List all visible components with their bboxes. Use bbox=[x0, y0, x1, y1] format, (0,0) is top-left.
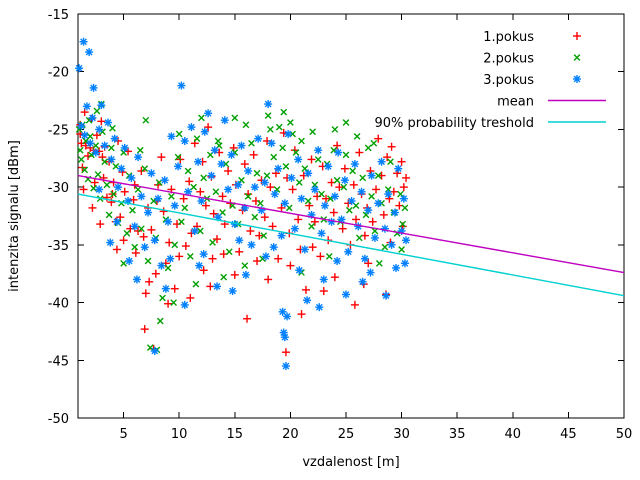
data-point-star bbox=[164, 218, 172, 226]
data-point-star bbox=[125, 257, 133, 265]
data-point-star bbox=[131, 222, 139, 230]
data-point-star bbox=[81, 131, 89, 139]
data-point-star bbox=[227, 151, 235, 159]
legend-label-3.pokus[interactable]: 3.pokus bbox=[483, 73, 534, 88]
data-point-star bbox=[242, 271, 250, 279]
data-point-star bbox=[333, 257, 341, 265]
data-point-star bbox=[384, 190, 392, 198]
y-tick-label: -45 bbox=[48, 354, 69, 369]
data-point-star bbox=[271, 190, 279, 198]
data-point-star bbox=[200, 250, 208, 258]
data-point-star bbox=[324, 162, 332, 170]
data-point-star bbox=[114, 183, 122, 191]
data-point-star bbox=[281, 333, 289, 341]
data-point-star bbox=[573, 75, 581, 83]
data-point-star bbox=[83, 102, 91, 110]
x-tick-label: 35 bbox=[449, 427, 466, 442]
data-point-star bbox=[400, 195, 408, 203]
x-axis-title: vzdalenost [m] bbox=[302, 455, 399, 470]
data-point-star bbox=[144, 209, 152, 217]
data-point-star bbox=[224, 185, 232, 193]
y-tick-label: -15 bbox=[48, 8, 69, 23]
data-point-star bbox=[391, 209, 399, 217]
legend-label-1.pokus[interactable]: 1.pokus bbox=[483, 30, 534, 45]
plot-background bbox=[0, 0, 640, 480]
data-point-star bbox=[348, 197, 356, 205]
data-point-star bbox=[167, 132, 175, 140]
data-point-star bbox=[194, 158, 202, 166]
data-point-star bbox=[267, 139, 275, 147]
data-point-star bbox=[86, 139, 94, 147]
data-point-star bbox=[104, 119, 112, 127]
data-point-star bbox=[75, 64, 83, 72]
data-point-star bbox=[315, 303, 323, 311]
data-point-star bbox=[344, 248, 352, 256]
data-point-star bbox=[137, 192, 145, 200]
y-tick-label: -25 bbox=[48, 123, 69, 138]
data-point-star bbox=[177, 82, 185, 90]
data-point-star bbox=[251, 183, 259, 191]
data-point-star bbox=[107, 155, 115, 163]
data-point-star bbox=[364, 206, 372, 214]
data-point-star bbox=[282, 362, 290, 370]
data-point-star bbox=[95, 185, 103, 193]
data-point-star bbox=[181, 301, 189, 309]
data-point-star bbox=[301, 245, 309, 253]
data-point-star bbox=[97, 101, 105, 109]
data-point-star bbox=[284, 130, 292, 138]
data-point-star bbox=[274, 165, 282, 173]
y-tick-label: -30 bbox=[48, 181, 69, 196]
data-point-star bbox=[162, 285, 170, 293]
data-point-star bbox=[111, 135, 119, 143]
data-point-star bbox=[127, 174, 135, 182]
data-point-star bbox=[321, 202, 329, 210]
data-point-star bbox=[166, 255, 174, 263]
data-point-star bbox=[247, 241, 255, 249]
data-point-star bbox=[331, 192, 339, 200]
data-point-star bbox=[106, 239, 114, 247]
data-point-star bbox=[147, 169, 155, 177]
data-point-star bbox=[113, 218, 121, 226]
data-point-star bbox=[378, 158, 386, 166]
legend-label-90% probability treshold[interactable]: 90% probability treshold bbox=[374, 116, 534, 131]
x-tick-label: 50 bbox=[616, 427, 633, 442]
data-point-star bbox=[235, 236, 243, 244]
data-point-star bbox=[294, 155, 302, 163]
x-tick-label: 45 bbox=[560, 427, 577, 442]
data-point-star bbox=[314, 146, 322, 154]
data-point-star bbox=[270, 243, 278, 251]
y-axis-title: intenzita signalu [dBm] bbox=[7, 140, 22, 292]
x-tick-label: 15 bbox=[227, 427, 244, 442]
data-point-star bbox=[311, 185, 319, 193]
data-point-star bbox=[358, 188, 366, 196]
chart-canvas: 5101520253035404550 -15-20-25-30-35-40-4… bbox=[0, 0, 640, 480]
data-point-star bbox=[382, 292, 390, 300]
data-point-star bbox=[121, 144, 129, 152]
data-point-star bbox=[374, 199, 382, 207]
data-point-star bbox=[80, 38, 88, 46]
y-tick-label: -35 bbox=[48, 239, 69, 254]
data-point-star bbox=[174, 162, 182, 170]
x-tick-label: 20 bbox=[282, 427, 299, 442]
data-point-star bbox=[298, 195, 306, 203]
data-point-star bbox=[291, 225, 299, 233]
data-point-star bbox=[134, 153, 142, 161]
data-point-star bbox=[318, 229, 326, 237]
data-point-star bbox=[207, 172, 215, 180]
data-point-star bbox=[181, 137, 189, 145]
data-point-star bbox=[217, 160, 225, 168]
data-point-star bbox=[366, 269, 374, 277]
data-point-star bbox=[157, 262, 165, 270]
data-point-star bbox=[381, 225, 389, 233]
data-point-star bbox=[191, 227, 199, 235]
x-tick-label: 5 bbox=[119, 427, 127, 442]
data-point-star bbox=[359, 278, 367, 286]
data-point-star bbox=[281, 199, 289, 207]
data-point-star bbox=[201, 128, 209, 136]
data-point-star bbox=[221, 116, 229, 124]
scatter-plot-figure: 5101520253035404550 -15-20-25-30-35-40-4… bbox=[0, 0, 640, 480]
data-point-star bbox=[261, 179, 269, 187]
data-point-star bbox=[117, 165, 125, 173]
data-point-star bbox=[229, 287, 237, 295]
data-point-star bbox=[211, 146, 219, 154]
y-tick-label: -20 bbox=[48, 66, 69, 81]
data-point-star bbox=[85, 48, 93, 56]
data-point-star bbox=[295, 266, 303, 274]
data-point-star bbox=[90, 84, 98, 92]
data-point-star bbox=[154, 195, 162, 203]
legend-label-2.pokus[interactable]: 2.pokus bbox=[483, 52, 534, 67]
data-point-star bbox=[101, 142, 109, 150]
data-point-star bbox=[234, 181, 242, 189]
data-point-star bbox=[254, 135, 262, 143]
x-tick-label: 30 bbox=[393, 427, 410, 442]
data-point-star bbox=[161, 176, 169, 184]
data-point-star bbox=[204, 109, 212, 117]
data-point-star bbox=[361, 255, 369, 263]
data-point-star bbox=[237, 142, 245, 150]
data-point-star bbox=[368, 172, 376, 180]
legend-label-mean[interactable]: mean bbox=[497, 95, 534, 110]
data-point-star bbox=[195, 262, 203, 270]
data-point-star bbox=[88, 114, 96, 122]
data-point-star bbox=[341, 176, 349, 184]
data-point-star bbox=[262, 252, 270, 260]
y-tick-label: -50 bbox=[48, 412, 69, 427]
x-tick-label: 25 bbox=[338, 427, 355, 442]
data-point-star bbox=[171, 202, 179, 210]
data-point-star bbox=[304, 169, 312, 177]
data-point-star bbox=[92, 149, 100, 157]
data-point-star bbox=[151, 347, 159, 355]
data-point-star bbox=[394, 165, 402, 173]
data-point-star bbox=[95, 125, 103, 133]
data-point-star bbox=[371, 234, 379, 242]
data-point-star bbox=[320, 275, 328, 283]
data-point-star bbox=[334, 149, 342, 157]
data-point-star bbox=[244, 167, 252, 175]
data-point-star bbox=[288, 174, 296, 182]
data-point-star bbox=[133, 275, 141, 283]
data-point-star bbox=[141, 243, 149, 251]
y-tick-label: -40 bbox=[48, 297, 69, 312]
data-point-star bbox=[342, 290, 350, 298]
data-point-star bbox=[77, 122, 85, 130]
data-point-star bbox=[187, 123, 195, 131]
data-point-star bbox=[392, 264, 400, 272]
data-point-star bbox=[151, 236, 159, 244]
data-point-star bbox=[303, 296, 311, 304]
data-point-star bbox=[264, 100, 272, 108]
data-point-star bbox=[213, 282, 221, 290]
data-point-star bbox=[283, 312, 291, 320]
data-point-star bbox=[351, 160, 359, 168]
x-tick-label: 40 bbox=[505, 427, 522, 442]
x-tick-label: 10 bbox=[171, 427, 188, 442]
data-point-star bbox=[401, 259, 409, 267]
data-point-star bbox=[388, 241, 396, 249]
data-point-star bbox=[402, 236, 410, 244]
